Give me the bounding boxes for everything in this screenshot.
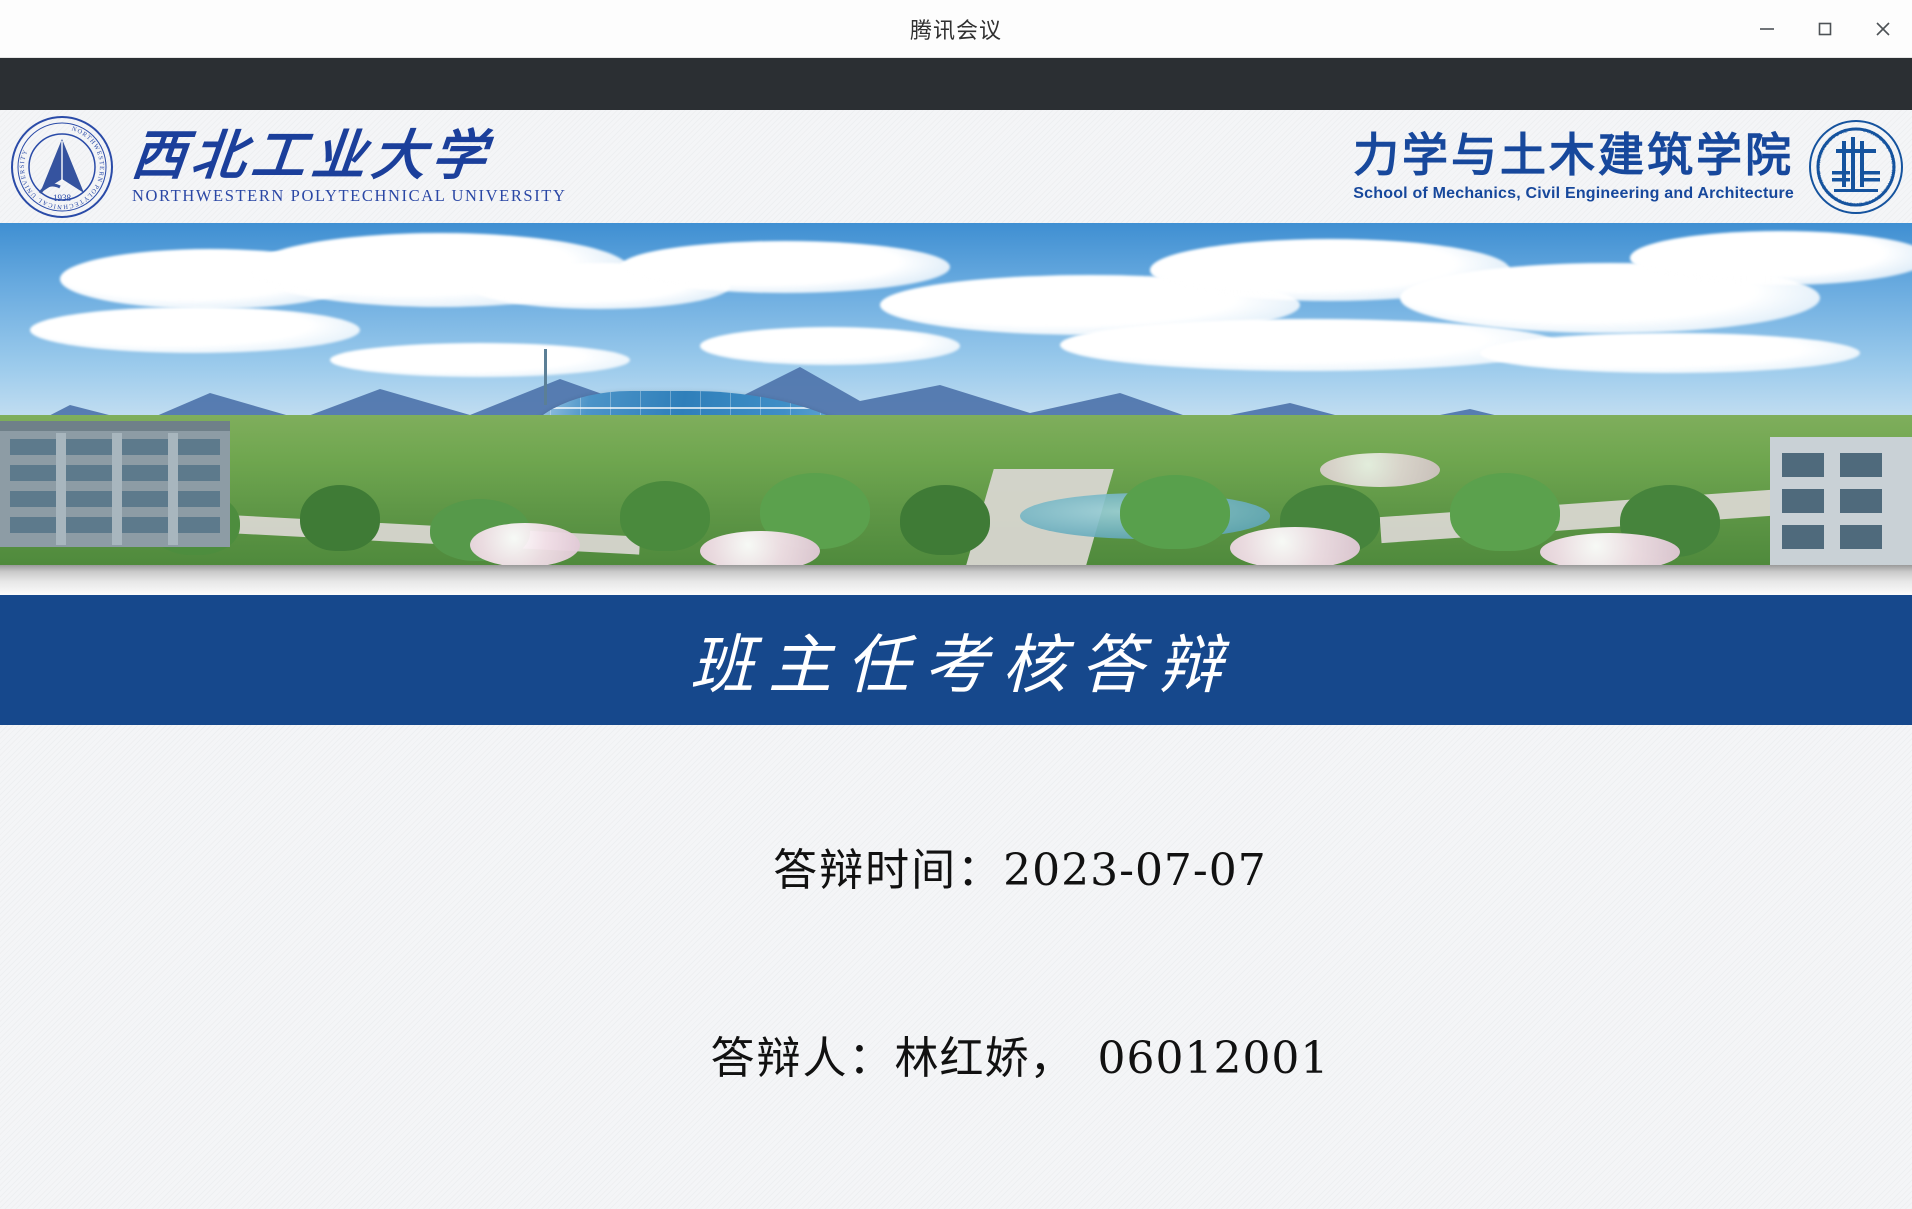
screen-share-letterbox <box>0 58 1912 110</box>
foreground-building-right <box>1752 437 1912 565</box>
university-seal-icon: NORTHWESTERN POLYTECHNICAL UNIVERSITY 19… <box>10 115 114 219</box>
photo-fade-divider <box>0 565 1912 595</box>
building-spire <box>544 349 547 405</box>
info-value-presenter: 林红娇， 06012001 <box>894 1033 1329 1084</box>
window-controls <box>1738 0 1912 58</box>
info-line-presenter: 答辩人：林红娇， 06012001 <box>583 971 1330 1137</box>
info-label-date: 答辩时间： <box>773 845 1003 896</box>
university-name-block: 西北工业大学 NORTHWESTERN POLYTECHNICAL UNIVER… <box>132 127 567 206</box>
slide-header: NORTHWESTERN POLYTECHNICAL UNIVERSITY 19… <box>0 110 1912 223</box>
slide-info-block: 答辩时间：2023-07-07 答辩人：林红娇， 06012001 学院：力学与… <box>0 725 1912 1209</box>
meeting-window: 腾讯会议 <box>0 0 1912 1209</box>
presentation-slide: NORTHWESTERN POLYTECHNICAL UNIVERSITY 19… <box>0 110 1912 1209</box>
window-title: 腾讯会议 <box>910 13 1002 45</box>
close-button[interactable] <box>1854 0 1912 58</box>
school-name-cn: 力学与土木建筑学院 <box>1353 130 1794 181</box>
school-name-block: 力学与土木建筑学院 School of Mechanics, Civil Eng… <box>1353 130 1794 204</box>
minimize-button[interactable] <box>1738 0 1796 58</box>
school-seal-icon: SCHOOL OF MECHANICS, CIVIL ENGINEERING A… <box>1808 119 1904 215</box>
school-branding: 力学与土木建筑学院 School of Mechanics, Civil Eng… <box>1353 119 1904 215</box>
campus-panorama-image <box>0 223 1912 565</box>
info-line-school: 学院：力学与土木建筑学院 <box>621 1159 1292 1209</box>
info-line-date: 答辩时间：2023-07-07 <box>645 783 1267 949</box>
university-name-cn: 西北工业大学 <box>129 127 569 184</box>
info-label-presenter: 答辩人： <box>710 1033 894 1084</box>
slide-title: 班主任考核答辩 <box>676 614 1236 706</box>
foreground-building-left <box>0 403 300 565</box>
slide-title-band: 班主任考核答辩 <box>0 595 1912 725</box>
svg-text:1938: 1938 <box>53 193 72 203</box>
university-branding: NORTHWESTERN POLYTECHNICAL UNIVERSITY 19… <box>10 115 567 219</box>
window-titlebar: 腾讯会议 <box>0 0 1912 58</box>
school-name-en: School of Mechanics, Civil Engineering a… <box>1353 185 1794 203</box>
university-name-en: NORTHWESTERN POLYTECHNICAL UNIVERSITY <box>132 186 567 206</box>
info-value-date: 2023-07-07 <box>1003 845 1267 896</box>
maximize-button[interactable] <box>1796 0 1854 58</box>
